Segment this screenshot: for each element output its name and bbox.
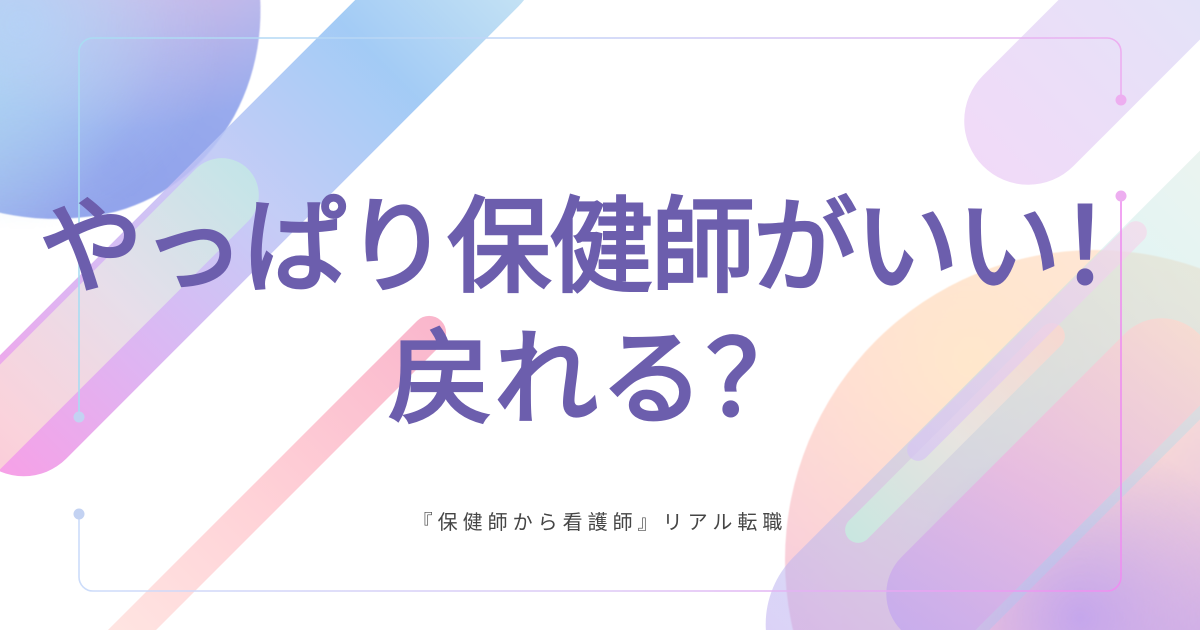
page-subtitle: 『保健師から看護師』リアル転職 bbox=[0, 506, 1200, 535]
title-line-2: 戻れる？ bbox=[0, 328, 1200, 432]
title-line-1: やっぱり保健師がいい！ bbox=[0, 196, 1200, 300]
page-title: やっぱり保健師がいい！ 戻れる？ bbox=[0, 196, 1200, 432]
banner-content: やっぱり保健師がいい！ 戻れる？ 『保健師から看護師』リアル転職 bbox=[0, 0, 1200, 630]
banner-canvas: やっぱり保健師がいい！ 戻れる？ 『保健師から看護師』リアル転職 bbox=[0, 0, 1200, 630]
